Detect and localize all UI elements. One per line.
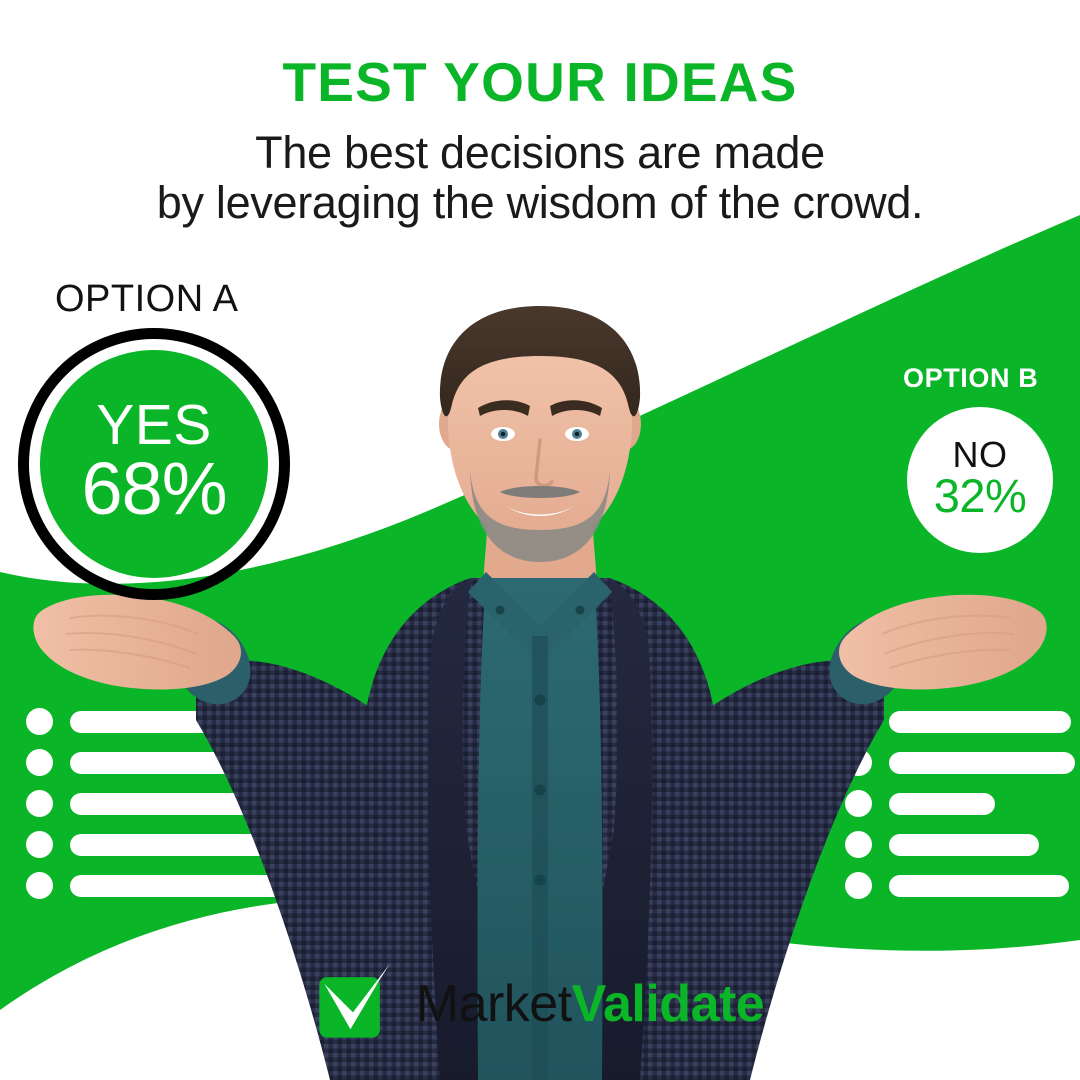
- page-title: TEST YOUR IDEAS: [0, 0, 1080, 110]
- option-a-label: OPTION A: [55, 278, 238, 321]
- placeholder-bar: [70, 834, 380, 856]
- brand-wordmark: MarketValidate: [416, 978, 764, 1030]
- placeholder-bar: [889, 793, 995, 815]
- bullet-dot-icon: [845, 790, 872, 817]
- list-item: [26, 749, 525, 776]
- placeholder-bar: [889, 875, 1069, 897]
- bullet-dot-icon: [26, 708, 53, 735]
- list-item: [845, 831, 1075, 858]
- green-checkmark-square-icon: [316, 962, 400, 1046]
- placeholder-bar: [70, 875, 362, 897]
- option-a-percent: 68%: [81, 454, 226, 524]
- list-item: [845, 708, 1075, 735]
- bullet-dot-icon: [845, 749, 872, 776]
- left-bullet-list: [26, 708, 525, 913]
- list-item: [845, 790, 1075, 817]
- page-subtitle: The best decisions are made by leveragin…: [0, 110, 1080, 229]
- option-b-label: OPTION B: [903, 363, 1038, 394]
- header-block: TEST YOUR IDEAS The best decisions are m…: [0, 0, 1080, 229]
- logo-square: [319, 977, 379, 1037]
- option-b-answer: NO: [953, 438, 1008, 472]
- bullet-dot-icon: [845, 831, 872, 858]
- option-b-badge[interactable]: NO 32%: [907, 407, 1053, 553]
- list-item: [26, 708, 525, 735]
- option-b-percent: 32%: [934, 474, 1027, 519]
- subtitle-line-2: by leveraging the wisdom of the crowd.: [0, 178, 1080, 228]
- list-item: [845, 872, 1075, 899]
- bullet-dot-icon: [26, 872, 53, 899]
- placeholder-bar: [70, 711, 440, 733]
- placeholder-bar: [70, 752, 525, 774]
- brand-logo[interactable]: MarketValidate: [0, 962, 1080, 1046]
- list-item: [845, 749, 1075, 776]
- list-item: [26, 790, 525, 817]
- option-a-answer: YES: [96, 398, 212, 452]
- list-item: [26, 872, 525, 899]
- brand-name-part1: Market: [416, 978, 572, 1030]
- brand-name-part2: Validate: [572, 978, 765, 1030]
- list-item: [26, 831, 525, 858]
- placeholder-bar: [889, 752, 1075, 774]
- bullet-dot-icon: [26, 749, 53, 776]
- option-a-badge[interactable]: YES 68%: [40, 350, 268, 578]
- bullet-dot-icon: [845, 708, 872, 735]
- bullet-dot-icon: [26, 831, 53, 858]
- placeholder-bar: [889, 834, 1039, 856]
- bullet-dot-icon: [26, 790, 53, 817]
- placeholder-bar: [70, 793, 285, 815]
- poll-infographic-canvas: TEST YOUR IDEAS The best decisions are m…: [0, 0, 1080, 1080]
- right-bullet-list: [845, 708, 1075, 913]
- placeholder-bar: [889, 711, 1071, 733]
- subtitle-line-1: The best decisions are made: [0, 128, 1080, 178]
- bullet-dot-icon: [845, 872, 872, 899]
